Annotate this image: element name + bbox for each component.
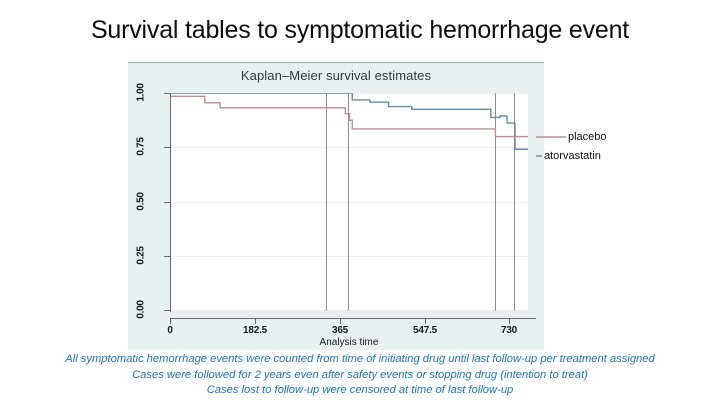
chart-title: Kaplan–Meier survival estimates xyxy=(128,68,544,83)
ytick-label-1.00: 1.00 xyxy=(136,71,147,115)
ytick-mark-0.75 xyxy=(164,147,170,148)
plot-area xyxy=(170,93,528,311)
xtick-mark-365 xyxy=(340,319,341,324)
footer-notes: All symptomatic hemorrhage events were c… xyxy=(0,352,720,399)
legend-label-placebo: placebo xyxy=(568,131,607,143)
xtick-label-365: 365 xyxy=(310,325,370,336)
footer-note-2: Cases were followed for 2 years even aft… xyxy=(0,368,720,384)
x-axis-title: Analysis time xyxy=(170,337,528,348)
xtick-mark-547.5 xyxy=(425,319,426,324)
ytick-label-0.25: 0.25 xyxy=(136,234,147,278)
xtick-label-0: 0 xyxy=(140,325,200,336)
ytick-mark-0.25 xyxy=(164,256,170,257)
footer-note-1: All symptomatic hemorrhage events were c… xyxy=(0,352,720,368)
page-title: Survival tables to symptomatic hemorrhag… xyxy=(0,16,720,45)
ytick-label-0.75: 0.75 xyxy=(136,125,147,169)
xtick-label-182.5: 182.5 xyxy=(225,325,285,336)
xtick-mark-0 xyxy=(170,319,171,324)
legend-label-atorvastatin: atorvastatin xyxy=(544,150,601,162)
y-axis-line xyxy=(170,93,171,312)
ytick-label-0.50: 0.50 xyxy=(136,180,147,224)
ytick-mark-0.00 xyxy=(164,310,170,311)
survival-curves xyxy=(170,93,528,311)
footer-note-3: Cases lost to follow-up were censored at… xyxy=(0,383,720,399)
xtick-label-547.5: 547.5 xyxy=(395,325,455,336)
x-axis-line xyxy=(170,318,536,319)
kaplan-meier-chart-panel: Kaplan–Meier survival estimates 1.00 0.7… xyxy=(128,62,544,350)
xtick-mark-730 xyxy=(509,319,510,324)
xtick-label-730: 730 xyxy=(479,325,539,336)
xtick-mark-182.5 xyxy=(255,319,256,324)
curve-atorvastatin xyxy=(170,93,528,149)
curve-placebo xyxy=(170,96,528,136)
ytick-mark-1.00 xyxy=(164,93,170,94)
ytick-mark-0.50 xyxy=(164,202,170,203)
